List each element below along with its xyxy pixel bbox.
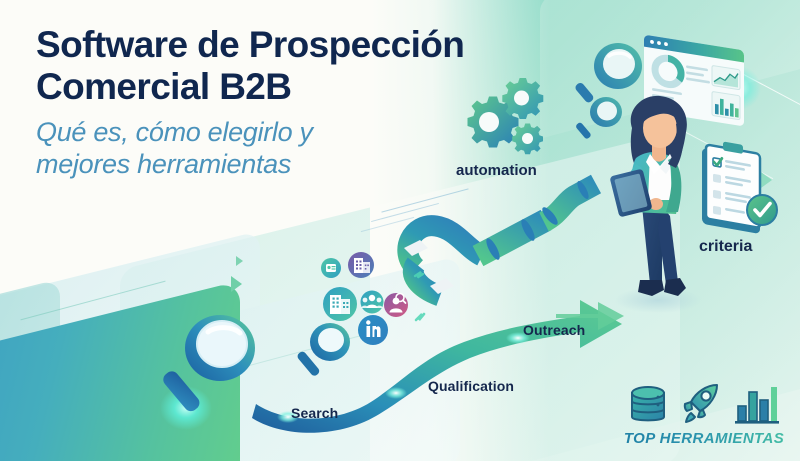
page-title-line-2: Comercial B2B — [36, 66, 291, 107]
brand-logo-icons — [614, 380, 794, 426]
page-subtitle-line-1: Qué es, cómo elegirlo y — [36, 117, 313, 147]
banner-canvas: Software de Prospección Comercial B2B Qu… — [0, 0, 800, 461]
brand-logo-text: TOP HERRAMIENTAS — [614, 430, 794, 447]
office-building-icon — [348, 252, 374, 278]
page-subtitle-line-2: mejores herramientas — [36, 149, 291, 179]
buildings-icon — [323, 287, 357, 321]
spark-icon — [415, 272, 424, 320]
tag-label-criteria: criteria — [699, 238, 752, 256]
headline-block: Software de Prospección Comercial B2B Qu… — [36, 24, 566, 180]
rocket-icon — [681, 382, 721, 426]
triangle-decor-2 — [231, 276, 242, 292]
tag-label-automation: automation — [456, 162, 537, 179]
page-title: Software de Prospección Comercial B2B — [36, 24, 566, 108]
flow-label-outreach: Outreach — [523, 322, 585, 338]
bar-chart-icon — [735, 384, 779, 426]
clipboard-checklist-icon — [692, 140, 784, 246]
page-title-line-1: Software de Prospección — [36, 24, 464, 65]
magnifying-glass-large-icon — [140, 300, 270, 430]
flow-label-search: Search — [291, 405, 338, 421]
person-search-icon — [384, 293, 408, 317]
linkedin-icon — [358, 315, 388, 345]
brand-logo[interactable]: TOP HERRAMIENTAS — [614, 380, 794, 447]
lead-bubble-icons — [320, 252, 435, 347]
business-card-icon — [321, 258, 341, 278]
triangle-decor-1 — [236, 256, 243, 266]
flow-label-qualification: Qualification — [428, 378, 514, 394]
people-group-icon — [361, 291, 384, 314]
database-icon — [629, 384, 667, 426]
